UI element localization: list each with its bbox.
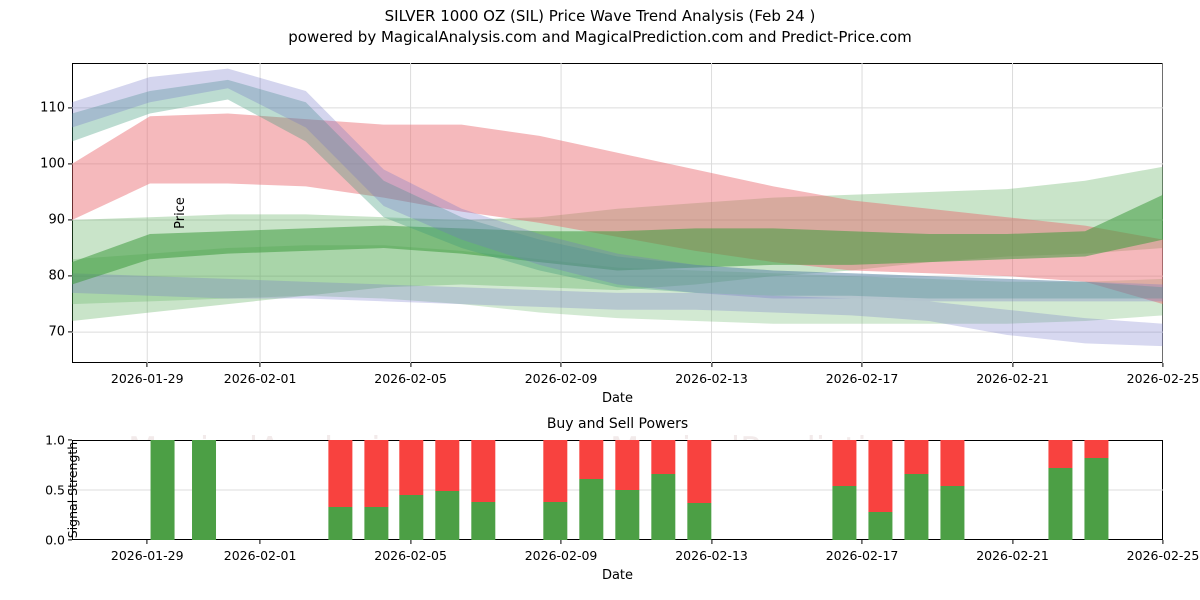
buy-power-bar (399, 495, 423, 540)
sell-power-bar (615, 440, 639, 490)
buy-power-bar (687, 503, 711, 540)
sell-power-bar (868, 440, 892, 512)
x-tick-mark (1162, 363, 1163, 367)
chart-title-block: SILVER 1000 OZ (SIL) Price Wave Trend An… (0, 6, 1200, 48)
buy-power-bar (151, 440, 175, 540)
x-tick-mark (1162, 540, 1163, 544)
y-tick-mark (68, 219, 72, 220)
buy-power-bar (543, 502, 567, 540)
x-tick-mark (1012, 363, 1013, 367)
x-tick-mark (410, 363, 411, 367)
y-tick-mark (68, 163, 72, 164)
x-tick-label: 2026-02-05 (374, 548, 447, 563)
y-tick-mark (68, 107, 72, 108)
x-tick-mark (147, 363, 148, 367)
sell-power-bar (687, 440, 711, 503)
buy-power-bar (651, 474, 675, 540)
buy-sell-powers-chart: Buy and Sell Powers Signal Strength Date… (72, 440, 1163, 540)
sell-power-bar (651, 440, 675, 474)
sell-power-bar (832, 440, 856, 486)
y-tick-label: 90 (48, 213, 65, 228)
y-tick-mark (68, 539, 72, 540)
x-tick-label: 2026-02-05 (374, 371, 447, 386)
buy-power-bar (328, 507, 352, 540)
buy-power-bar (192, 440, 216, 540)
signal-y-axis-label: Signal Strength (22, 440, 122, 540)
chart-page: SILVER 1000 OZ (SIL) Price Wave Trend An… (0, 0, 1200, 600)
x-tick-label: 2026-02-21 (976, 371, 1049, 386)
signal-x-axis-label: Date (72, 568, 1163, 583)
y-tick-label: 80 (48, 269, 65, 284)
price-plot-canvas (72, 63, 1163, 363)
x-tick-mark (1012, 540, 1013, 544)
buy-power-bar (471, 502, 495, 540)
y-tick-mark (68, 332, 72, 333)
sell-power-bar (940, 440, 964, 486)
signal-panel-title: Buy and Sell Powers (72, 416, 1163, 432)
x-tick-mark (560, 363, 561, 367)
buy-power-bar (1084, 458, 1108, 540)
x-tick-label: 2026-02-21 (976, 548, 1049, 563)
buy-power-bar (364, 507, 388, 540)
buy-power-bar (615, 490, 639, 540)
x-tick-label: 2026-02-01 (224, 548, 297, 563)
x-tick-label: 2026-02-09 (525, 548, 598, 563)
buy-power-bar (579, 479, 603, 540)
buy-power-bar (940, 486, 964, 540)
sell-power-bar (364, 440, 388, 507)
y-tick-label: 0.0 (45, 533, 65, 548)
x-tick-mark (147, 540, 148, 544)
page-title: SILVER 1000 OZ (SIL) Price Wave Trend An… (0, 6, 1200, 27)
x-tick-mark (560, 540, 561, 544)
sell-power-bar (579, 440, 603, 479)
buy-power-bar (435, 491, 459, 540)
x-tick-label: 2026-02-09 (525, 371, 598, 386)
x-tick-label: 2026-02-17 (826, 371, 899, 386)
price-x-axis-label: Date (72, 391, 1163, 406)
x-tick-label: 2026-01-29 (111, 371, 184, 386)
x-tick-label: 2026-02-13 (675, 371, 748, 386)
page-subtitle: powered by MagicalAnalysis.com and Magic… (0, 27, 1200, 48)
x-tick-mark (861, 363, 862, 367)
y-tick-label: 70 (48, 325, 65, 340)
sell-power-bar (328, 440, 352, 507)
y-tick-label: 110 (40, 100, 65, 115)
sell-power-bar (1048, 440, 1072, 468)
y-tick-label: 100 (40, 156, 65, 171)
y-tick-mark (68, 489, 72, 490)
x-tick-label: 2026-02-17 (826, 548, 899, 563)
x-tick-mark (410, 540, 411, 544)
sell-power-bar (904, 440, 928, 474)
x-tick-mark (861, 540, 862, 544)
signal-plot-canvas (72, 440, 1163, 540)
x-tick-mark (260, 540, 261, 544)
buy-power-bar (868, 512, 892, 540)
x-tick-mark (711, 540, 712, 544)
x-tick-mark (711, 363, 712, 367)
y-tick-label: 0.5 (45, 483, 65, 498)
sell-power-bar (471, 440, 495, 502)
sell-power-bar (435, 440, 459, 491)
x-tick-label: 2026-02-25 (1127, 548, 1200, 563)
y-tick-label: 1.0 (45, 433, 65, 448)
x-tick-label: 2026-02-13 (675, 548, 748, 563)
price-wave-chart: Price Date 708090100110 2026-01-292026-0… (72, 63, 1163, 363)
x-tick-label: 2026-02-25 (1127, 371, 1200, 386)
x-tick-label: 2026-01-29 (111, 548, 184, 563)
sell-power-bar (1084, 440, 1108, 458)
buy-power-bar (904, 474, 928, 540)
y-tick-mark (68, 439, 72, 440)
x-tick-label: 2026-02-01 (224, 371, 297, 386)
sell-power-bar (543, 440, 567, 502)
x-tick-mark (260, 363, 261, 367)
buy-power-bar (832, 486, 856, 540)
buy-power-bar (1048, 468, 1072, 540)
y-tick-mark (68, 275, 72, 276)
sell-power-bar (399, 440, 423, 495)
